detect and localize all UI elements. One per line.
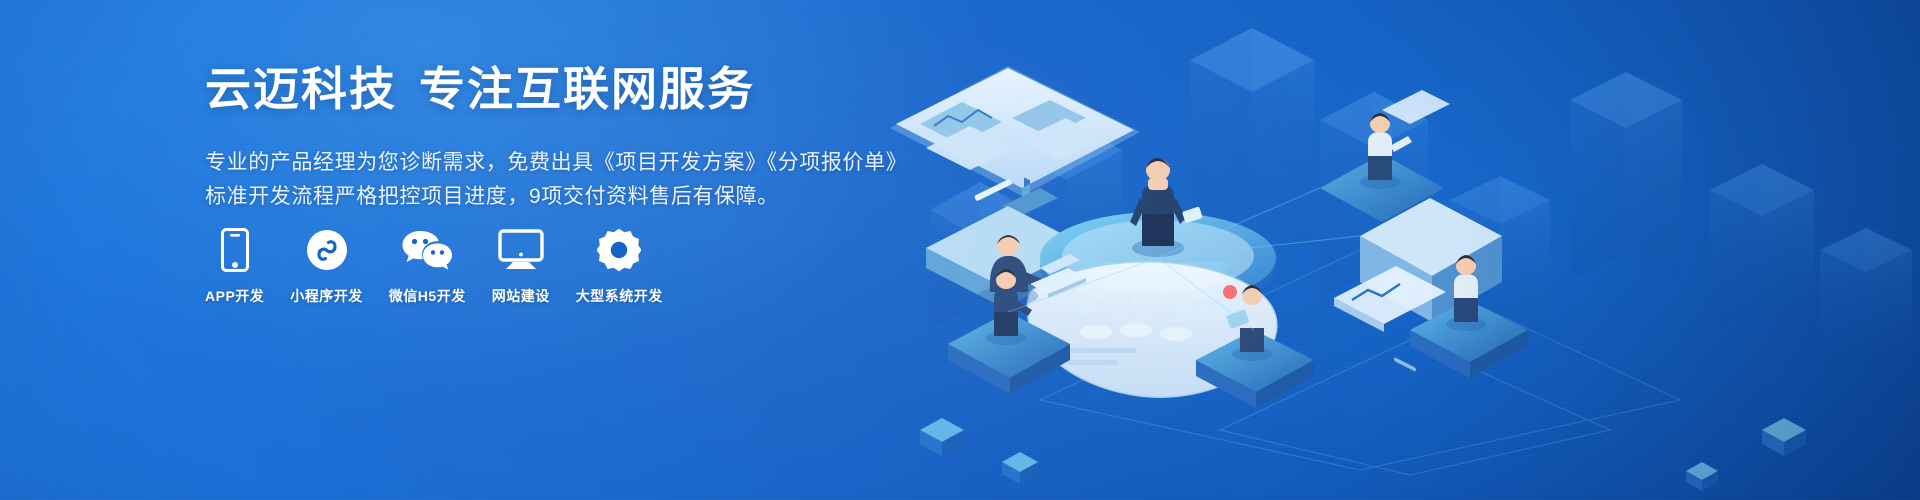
headline-brand: 云迈科技 — [205, 63, 397, 115]
service-item-app[interactable]: APP开发 — [205, 228, 264, 306]
banner-subtitle: 专业的产品经理为您诊断需求，免费出具《项目开发方案》《分项报价单》 标准开发流程… — [205, 146, 985, 214]
service-label: APP开发 — [205, 286, 264, 306]
service-label: 网站建设 — [492, 286, 550, 306]
service-item-wechat-h5[interactable]: 微信H5开发 — [389, 228, 466, 306]
service-label: 小程序开发 — [290, 286, 363, 306]
mini-program-icon — [306, 228, 348, 272]
floating-cubes — [920, 418, 1806, 491]
hero-banner: 云迈科技专注互联网服务 专业的产品经理为您诊断需求，免费出具《项目开发方案》《分… — [0, 0, 1920, 500]
banner-copy: 云迈科技专注互联网服务 专业的产品经理为您诊断需求，免费出具《项目开发方案》《分… — [205, 62, 985, 214]
gear-icon — [597, 228, 641, 272]
service-list: APP开发 小程序开发 — [205, 228, 663, 306]
mobile-phone-icon — [221, 228, 249, 272]
service-item-miniprogram[interactable]: 小程序开发 — [290, 228, 363, 306]
service-label: 微信H5开发 — [389, 286, 466, 306]
headline-tagline: 专注互联网服务 — [419, 63, 755, 115]
subtitle-line-2: 标准开发流程严格把控项目进度，9项交付资料售后有保障。 — [205, 180, 985, 214]
page-title: 云迈科技专注互联网服务 — [205, 62, 985, 116]
wechat-icon — [401, 228, 453, 272]
subtitle-line-1: 专业的产品经理为您诊断需求，免费出具《项目开发方案》《分项报价单》 — [205, 146, 985, 180]
service-label: 大型系统开发 — [576, 286, 663, 306]
service-item-large-system[interactable]: 大型系统开发 — [576, 228, 663, 306]
isometric-illustration — [890, 0, 1920, 500]
service-item-website[interactable]: 网站建设 — [492, 228, 550, 306]
monitor-icon — [498, 228, 544, 272]
